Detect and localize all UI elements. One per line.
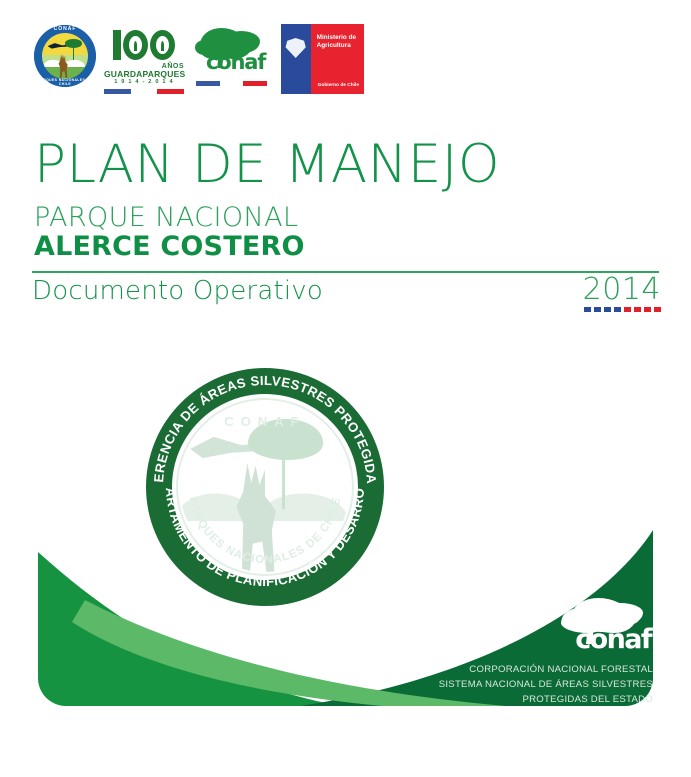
- footer-line-3: PROTEGIDAS DEL ESTADO: [393, 693, 653, 708]
- ranger-figure-icon: [132, 39, 139, 51]
- conaf-wordmark-text: conaf: [206, 50, 265, 74]
- footer-organization-text: CORPORACIÓN NACIONAL FORESTAL SISTEMA NA…: [393, 663, 653, 708]
- subtitle-park-category: PARQUE NACIONAL: [34, 204, 298, 231]
- footer-conaf-tree-icon: conaf: [503, 598, 653, 660]
- chile-coat-of-arms-icon: [285, 38, 307, 58]
- document-cover-page: CONAF PARQUES NACIONALES DE CHILE AÑOS G…: [0, 0, 691, 777]
- document-type-label: Documento Operativo: [32, 276, 323, 306]
- ministry-name: Ministerio de Agricultura: [317, 34, 356, 50]
- footer-line-1: CORPORACIÓN NACIONAL FORESTAL: [393, 663, 653, 678]
- ministerio-de-agricultura-logo: Ministerio de Agricultura Gobierno de Ch…: [281, 24, 364, 94]
- conaf-tree-icon: conaf: [196, 26, 267, 78]
- ministry-line2: Agricultura: [317, 42, 356, 50]
- ranger-hat-icon: [159, 39, 166, 51]
- ministry-line1: Ministerio de: [317, 34, 356, 42]
- conaf-wordmark-logo: conaf: [196, 26, 267, 100]
- centenary-guardaparques-label: GUARDAPARQUES: [104, 70, 184, 79]
- ministry-red-panel: Ministerio de Agricultura Gobierno de Ch…: [311, 24, 364, 94]
- conaf-parques-nacionales-emblem: CONAF PARQUES NACIONALES DE CHILE: [34, 24, 96, 98]
- 100-anos-guardaparques-logo: AÑOS GUARDAPARQUES 1 9 1 4 - 2 0 1 4: [104, 28, 184, 102]
- seal-outer-top-text: GERENCIA DE ÁREAS SILVESTRES PROTEGIDAS: [146, 368, 379, 485]
- svg-text:GERENCIA DE ÁREAS SILVESTRES P: GERENCIA DE ÁREAS SILVESTRES PROTEGIDAS: [146, 368, 379, 485]
- subtitle-park-name: ALERCE COSTERO: [34, 233, 305, 260]
- footer-conaf-wordmark-text: conaf: [575, 624, 651, 655]
- centenary-years-label: 1 9 1 4 - 2 0 1 4: [104, 79, 184, 86]
- emblem-top-text: CONAF: [34, 26, 96, 32]
- centenary-number: [104, 28, 184, 62]
- year-flag-dots: [584, 307, 661, 312]
- footer-line-2: SISTEMA NACIONAL DE ÁREAS SILVESTRES: [393, 678, 653, 693]
- title-divider: [32, 271, 659, 273]
- chile-flag-bar: [104, 89, 184, 94]
- emblem-circle: CONAF PARQUES NACIONALES DE CHILE: [34, 25, 96, 87]
- chile-flag-bar: [196, 81, 267, 86]
- footer-conaf-logo: conaf: [503, 598, 653, 660]
- emblem-bottom-text: PARQUES NACIONALES DE CHILE: [34, 78, 96, 86]
- document-year: 2014: [583, 272, 661, 307]
- header-logo-bar: CONAF PARQUES NACIONALES DE CHILE AÑOS G…: [34, 24, 364, 98]
- page-title: PLAN DE MANEJO: [34, 138, 500, 191]
- ministry-blue-panel: [281, 24, 311, 94]
- government-label: Gobierno de Chile: [318, 83, 359, 88]
